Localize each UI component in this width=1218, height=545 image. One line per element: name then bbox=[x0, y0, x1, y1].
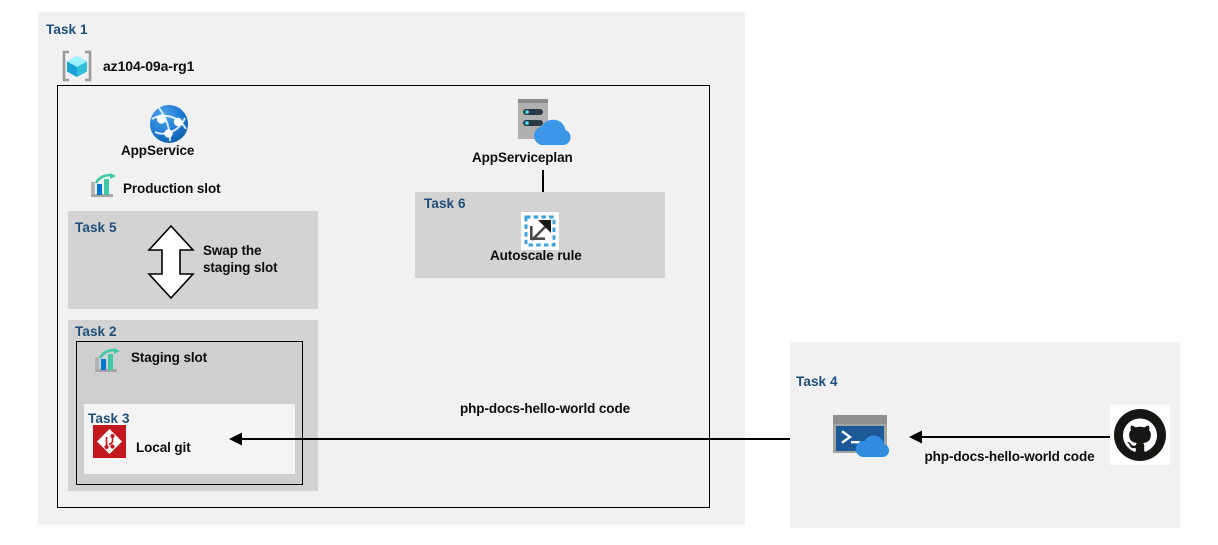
center-arrow-label: php-docs-hello-world code bbox=[455, 401, 635, 418]
app-service-plan-server-cloud-icon bbox=[515, 97, 572, 149]
resource-group-cube-icon bbox=[60, 50, 94, 82]
production-slot-label: Production slot bbox=[123, 181, 221, 196]
autoscale-arrow-icon bbox=[521, 212, 559, 250]
resource-group-name: az104-09a-rg1 bbox=[103, 58, 194, 74]
github-octocat-icon bbox=[1110, 405, 1170, 465]
task6-label: Task 6 bbox=[424, 196, 466, 211]
task1-label: Task 1 bbox=[46, 22, 88, 37]
task2-label: Task 2 bbox=[75, 324, 117, 339]
deployment-slot-icon-production bbox=[88, 173, 118, 201]
swap-double-arrow-icon bbox=[146, 224, 196, 300]
appserviceplan-label: AppServiceplan bbox=[472, 150, 573, 165]
github-to-cloudshell-arrow-head bbox=[909, 430, 923, 444]
cloudshell-to-localgit-arrow-head bbox=[229, 432, 243, 446]
task4-label: Task 4 bbox=[796, 374, 838, 389]
diagram-canvas: Task 1 az104-09a-rg1 bbox=[0, 0, 1218, 545]
app-service-globe-icon bbox=[148, 103, 190, 145]
deployment-slot-icon-staging bbox=[92, 348, 122, 376]
task5-text: Swap the staging slot bbox=[203, 243, 311, 277]
cloud-shell-terminal-icon bbox=[833, 415, 898, 460]
cloudshell-to-localgit-arrow-shaft bbox=[240, 438, 815, 440]
task5-label: Task 5 bbox=[75, 220, 117, 235]
appservice-label: AppService bbox=[121, 143, 194, 158]
local-git-label: Local git bbox=[136, 440, 191, 455]
git-repository-icon bbox=[93, 425, 126, 458]
staging-slot-label: Staging slot bbox=[131, 350, 207, 365]
task4-arrow-label: php-docs-hello-world code bbox=[922, 449, 1097, 466]
task3-label: Task 3 bbox=[88, 411, 130, 426]
github-to-cloudshell-arrow-shaft bbox=[920, 436, 1110, 438]
autoscale-rule-label: Autoscale rule bbox=[490, 248, 582, 263]
